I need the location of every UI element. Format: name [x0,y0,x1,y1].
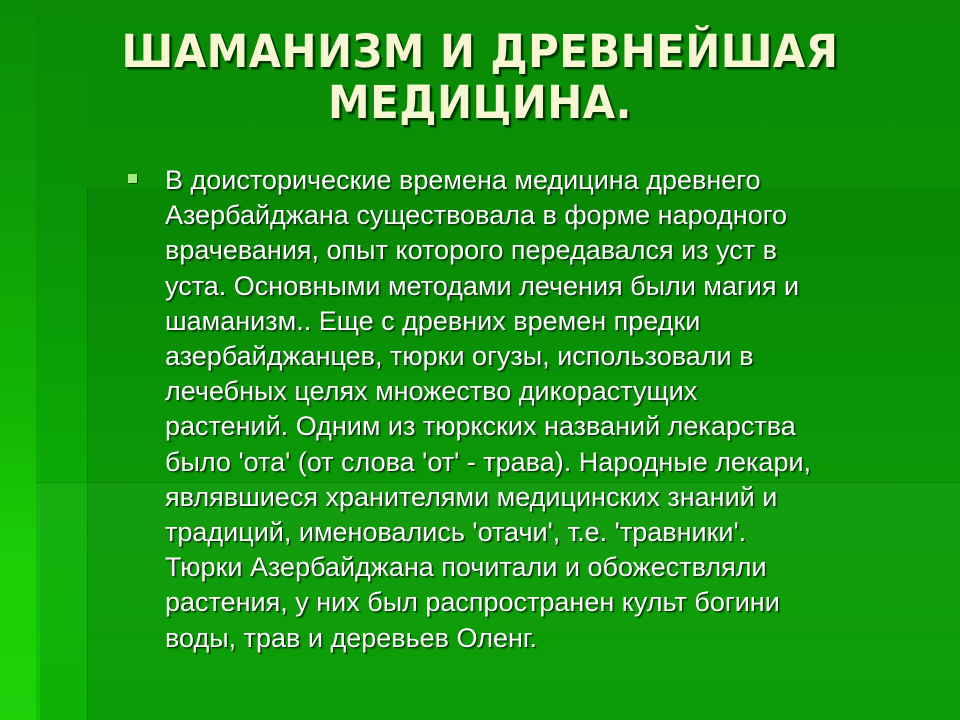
body-line: уста. Основными методами лечения были ма… [165,269,940,304]
body-line: лечебных целях множество дикорастущих [165,374,940,409]
body-line: являвшиеся хранителями медицинских знани… [165,480,940,515]
body-line: азербайджанцев, тюрки огузы, использовал… [165,339,940,374]
slide-body-paragraph: В доисторические времена медицина древне… [137,163,940,656]
body-line: Азербайджана существовала в форме народн… [165,198,940,233]
slide-body: В доисторические времена медицина древне… [128,163,940,656]
square-bullet-icon [128,174,137,183]
slide-background-bottom-left-glow [0,420,40,720]
body-line: растений. Одним из тюркских названий лек… [165,409,940,444]
slide-title-line-1: ШАМАНИЗМ И ДРЕВНЕЙШАЯ [34,26,927,77]
presentation-slide: ШАМАНИЗМ И ДРЕВНЕЙШАЯ МЕДИЦИНА. В доисто… [0,0,960,720]
body-line: воды, трав и деревьев Оленг. [165,621,940,656]
body-line: было 'ота' (от слова 'от' - трава). Наро… [165,445,940,480]
body-line: врачевания, опыт которого передавался из… [165,233,940,268]
body-line: Тюрки Азербайджана почитали и обожествля… [165,550,940,585]
slide-title-line-2: МЕДИЦИНА. [34,77,927,128]
body-line: шаманизм.. Еще с древних времен предки [165,304,940,339]
body-line: В доисторические времена медицина древне… [165,163,940,198]
body-line: растения, у них был распространен культ … [165,585,940,620]
body-line: традиций, именовались 'отачи', т.е. 'тра… [165,515,940,550]
slide-title: ШАМАНИЗМ И ДРЕВНЕЙШАЯ МЕДИЦИНА. [0,26,960,128]
